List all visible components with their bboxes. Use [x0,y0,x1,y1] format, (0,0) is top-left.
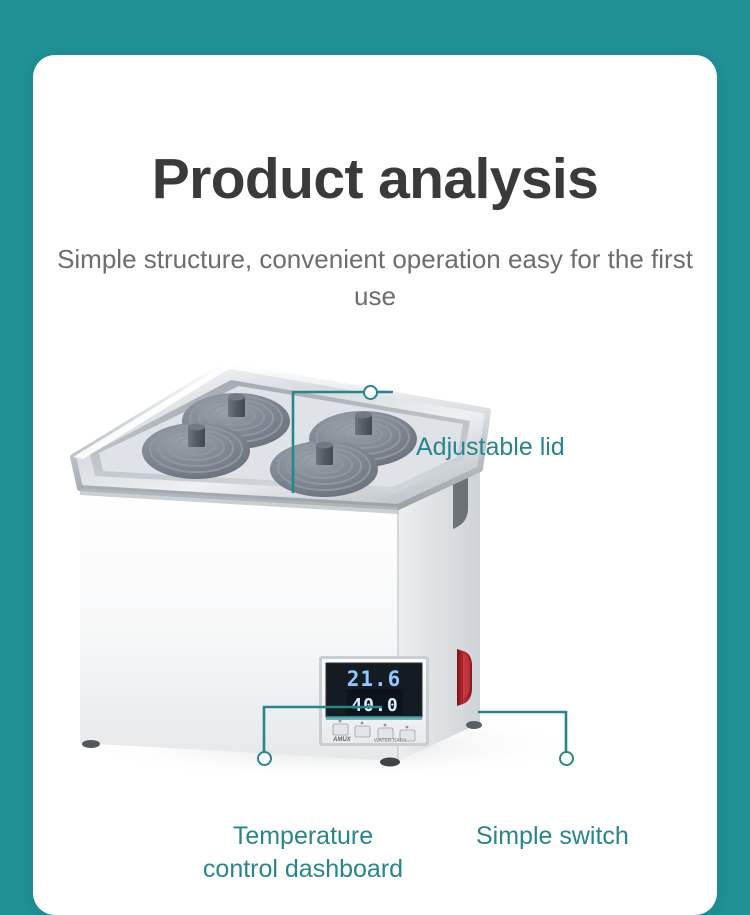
content-card: Product analysis Simple structure, conve… [33,55,717,915]
foot-left [82,740,100,748]
lid-front-left [142,423,250,479]
leader-line-temperature-dashboard [258,700,388,770]
callout-label-simple-switch: Simple switch [476,820,706,853]
power-switch[interactable] [457,649,472,706]
callout-label-temperature-dashboard: Temperature control dashboard [173,820,433,886]
leader-line-adjustable-lid [288,385,408,505]
ring-marker-adjustable-lid[interactable] [363,385,378,400]
display-top-value: 21.6 [347,667,402,691]
ring-marker-temperature-dashboard[interactable] [257,751,272,766]
callout-label-adjustable-lid: Adjustable lid [416,431,565,464]
leader-line-simple-switch [473,705,573,767]
ring-marker-simple-switch[interactable] [559,751,574,766]
infographic-canvas: Product analysis Simple structure, conve… [0,0,750,878]
